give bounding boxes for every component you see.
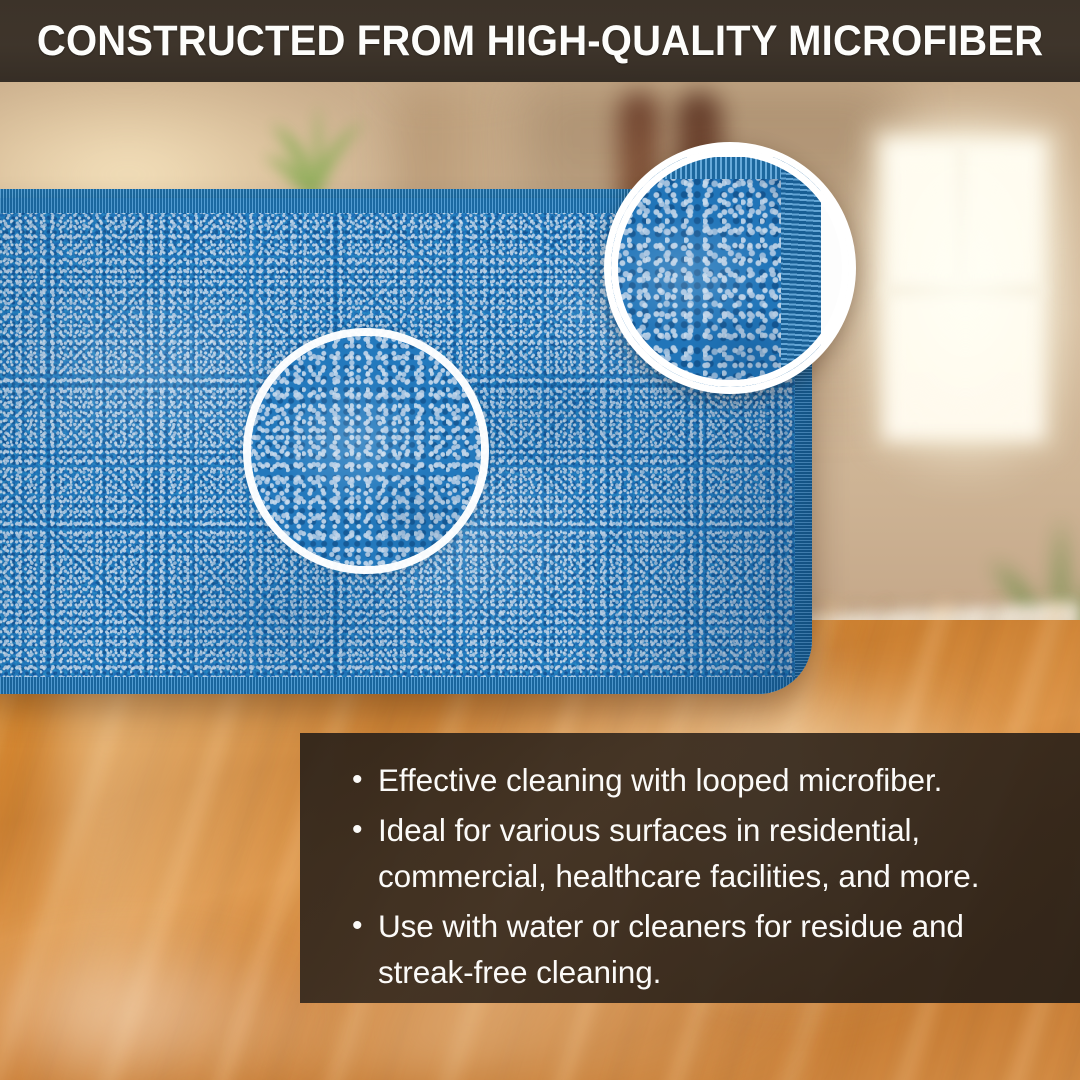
bullet-text: Effective cleaning with looped microfibe… bbox=[378, 757, 942, 803]
feature-bullet-list: • Effective cleaning with looped microfi… bbox=[352, 757, 1050, 995]
bullet-line-1: Effective cleaning with looped microfibe… bbox=[378, 762, 942, 798]
bullet-line-2: commercial, healthcare facilities, and m… bbox=[378, 858, 979, 894]
callout-texture-magnified bbox=[251, 336, 481, 566]
bullet-item: • Use with water or cleaners for residue… bbox=[352, 903, 1050, 995]
header-title: CONSTRUCTED FROM HIGH-QUALITY MICROFIBER bbox=[37, 20, 1043, 63]
bullet-item: • Ideal for various surfaces in resident… bbox=[352, 807, 1050, 899]
bullet-marker-icon: • bbox=[352, 903, 378, 949]
bullet-item: • Effective cleaning with looped microfi… bbox=[352, 757, 1050, 803]
callout-surface-texture-ring bbox=[243, 328, 489, 574]
bullet-line-1: Use with water or cleaners for residue a… bbox=[378, 908, 964, 944]
header-banner: CONSTRUCTED FROM HIGH-QUALITY MICROFIBER bbox=[0, 0, 1080, 82]
bullet-text: Ideal for various surfaces in residentia… bbox=[378, 807, 979, 899]
bullet-text: Use with water or cleaners for residue a… bbox=[378, 903, 964, 995]
bullet-marker-icon: • bbox=[352, 807, 378, 853]
bullet-line-2: streak-free cleaning. bbox=[378, 954, 661, 990]
callout-corner-detail bbox=[604, 142, 856, 394]
callout-circle-border bbox=[611, 149, 849, 387]
bullet-marker-icon: • bbox=[352, 757, 378, 803]
callout-texture-shading bbox=[251, 336, 481, 566]
floor-reflection bbox=[0, 930, 340, 1080]
product-feature-image: CONSTRUCTED FROM HIGH-QUALITY MICROFIBER… bbox=[0, 0, 1080, 1080]
bullet-line-1: Ideal for various surfaces in residentia… bbox=[378, 812, 920, 848]
feature-bullets-panel: • Effective cleaning with looped microfi… bbox=[300, 733, 1080, 1003]
window-light-glow bbox=[848, 110, 1080, 480]
